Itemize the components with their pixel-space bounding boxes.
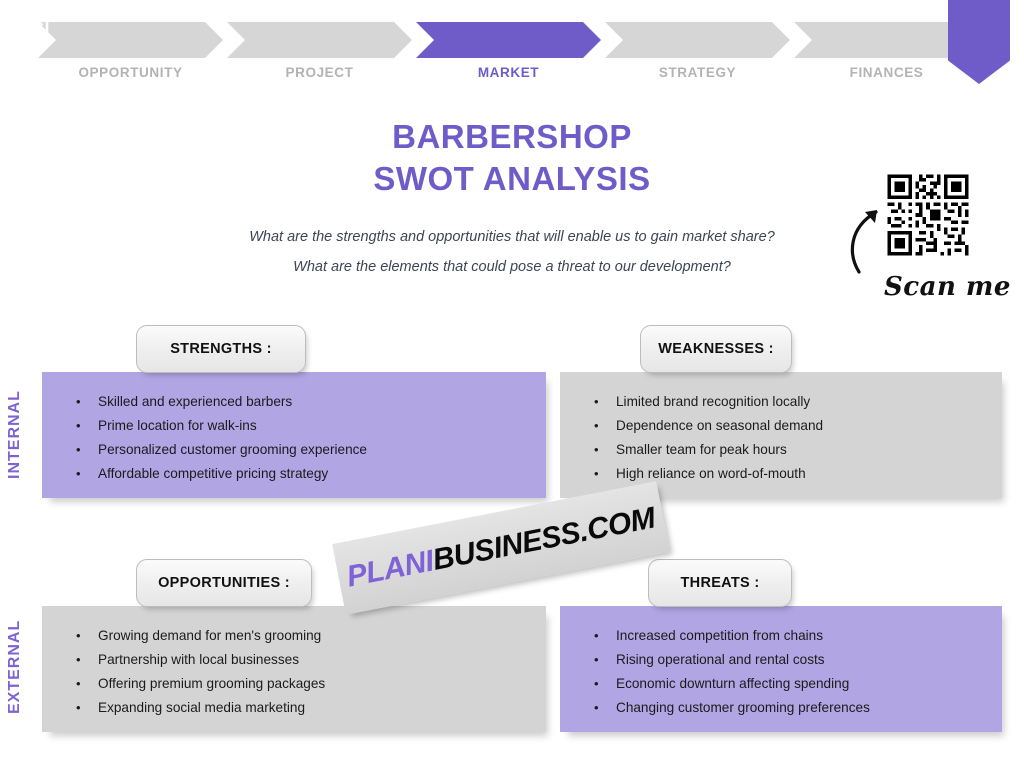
list-item: Expanding social media marketing <box>72 696 530 720</box>
quadrant-threats: Increased competition from chains Rising… <box>560 606 1002 732</box>
quadrant-weaknesses: Limited brand recognition locally Depend… <box>560 372 1002 498</box>
process-step-nav: OPPORTUNITY PROJECT MARKET STRATEGY FINA… <box>38 22 928 84</box>
nav-step-label-strategy: STRATEGY <box>605 62 790 84</box>
list-item: Personalized customer grooming experienc… <box>72 438 530 462</box>
weaknesses-list: Limited brand recognition locally Depend… <box>560 372 1002 486</box>
strengths-list: Skilled and experienced barbers Prime lo… <box>42 372 546 486</box>
curved-arrow-up-icon <box>846 198 888 276</box>
list-item: Growing demand for men's grooming <box>72 624 530 648</box>
quadrant-header-opportunities[interactable]: OPPORTUNITIES : <box>136 559 312 607</box>
nav-step-label-project: PROJECT <box>227 62 412 84</box>
qr-code-container[interactable] <box>876 166 980 264</box>
quadrant-header-weaknesses[interactable]: WEAKNESSES : <box>640 325 792 373</box>
scan-me-caption: Scan me <box>884 272 1011 302</box>
watermark-brand-rest: BUSINESS.COM <box>430 501 658 576</box>
quadrant-header-strengths[interactable]: STRENGTHS : <box>136 325 306 373</box>
quadrant-header-label-strengths: STRENGTHS : <box>170 341 272 357</box>
threats-list: Increased competition from chains Rising… <box>560 606 1002 720</box>
list-item: Economic downturn affecting spending <box>590 672 986 696</box>
quadrant-strengths: Skilled and experienced barbers Prime lo… <box>42 372 546 498</box>
quadrant-opportunities: Growing demand for men's grooming Partne… <box>42 606 546 732</box>
opportunities-list: Growing demand for men's grooming Partne… <box>42 606 546 720</box>
watermark-banner: PLANIBUSINESS.COM <box>332 481 670 615</box>
swot-analysis-page: OPPORTUNITY PROJECT MARKET STRATEGY FINA… <box>0 0 1024 768</box>
strategy-playbook-icon <box>11 10 51 50</box>
nav-step-opportunity[interactable] <box>38 22 223 58</box>
qr-code-icon <box>881 171 975 259</box>
list-item: Dependence on seasonal demand <box>590 414 986 438</box>
axis-label-internal: INTERNAL <box>6 372 34 498</box>
watermark-text: PLANIBUSINESS.COM <box>344 501 658 594</box>
nav-step-label-opportunity: OPPORTUNITY <box>38 62 223 84</box>
nav-step-label-market: MARKET <box>416 62 601 84</box>
list-item: Smaller team for peak hours <box>590 438 986 462</box>
nav-step-project[interactable] <box>227 22 412 58</box>
list-item: Prime location for walk-ins <box>72 414 530 438</box>
list-item: Limited brand recognition locally <box>590 390 986 414</box>
list-item: Changing customer grooming preferences <box>590 696 986 720</box>
axis-label-external: EXTERNAL <box>6 604 34 730</box>
nav-step-label-finances: FINANCES <box>794 62 979 84</box>
nav-step-market[interactable] <box>416 22 601 58</box>
nav-step-strategy[interactable] <box>605 22 790 58</box>
list-item: Skilled and experienced barbers <box>72 390 530 414</box>
list-item: Increased competition from chains <box>590 624 986 648</box>
list-item: Partnership with local businesses <box>72 648 530 672</box>
watermark-brand-accent: PLANI <box>344 544 436 593</box>
list-item: Rising operational and rental costs <box>590 648 986 672</box>
page-title-line-2: SWOT ANALYSIS <box>0 158 1024 200</box>
quadrant-header-label-opportunities: OPPORTUNITIES : <box>158 575 290 591</box>
list-item: Affordable competitive pricing strategy <box>72 462 530 486</box>
quadrant-header-label-threats: THREATS : <box>681 575 760 591</box>
quadrant-header-label-weaknesses: WEAKNESSES : <box>658 341 774 357</box>
list-item: Offering premium grooming packages <box>72 672 530 696</box>
page-title-line-1: BARBERSHOP <box>0 116 1024 158</box>
quadrant-header-threats[interactable]: THREATS : <box>648 559 792 607</box>
